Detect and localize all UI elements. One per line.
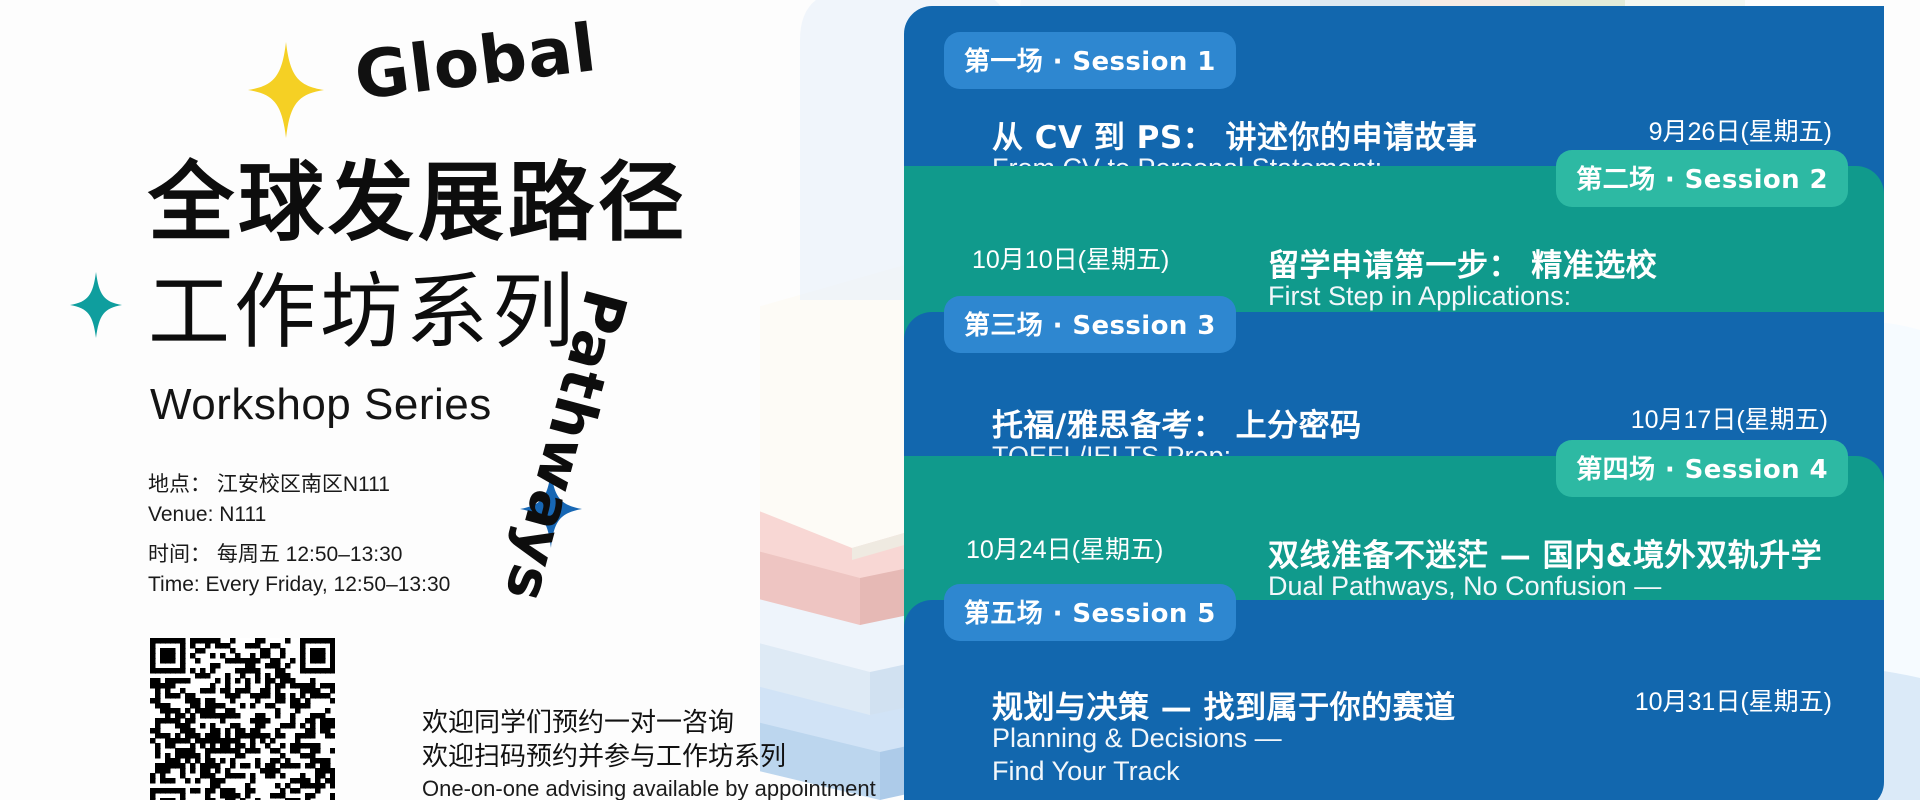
time-info: 时间： 每周五 12:50–13:30 Time: Every Friday, … <box>148 540 450 601</box>
left-info-panel: Global 全球发展路径 工作坊系列 Workshop Series Path… <box>0 0 900 800</box>
callout-en: One-on-one advising available by appoint… <box>422 774 876 800</box>
session-card-5-en-line2: Find Your Track <box>992 755 1282 788</box>
session-card-3-title-cn: 托福/雅思备考： 上分密码 <box>992 400 1362 445</box>
session-card-5-date: 10月31日(星期五) <box>1635 682 1832 718</box>
session-card-4-en-line1: Dual Pathways, No Confusion — <box>1268 570 1661 603</box>
session-card-3-date: 10月17日(星期五) <box>1631 400 1828 436</box>
time-cn: 时间： 每周五 12:50–13:30 <box>148 540 450 570</box>
session-card-2-en-line1: First Step in Applications: <box>1268 280 1618 313</box>
sparkle-yellow-icon <box>248 42 324 138</box>
session-card-1-date: 9月26日(星期五) <box>1649 112 1832 148</box>
venue-en: Venue: N111 <box>148 500 390 530</box>
page-title-en: Workshop Series <box>150 380 492 430</box>
page-title-cn-line1: 全球发展路径 <box>148 160 688 246</box>
session-card-1-badge: 第一场 · Session 1 <box>944 32 1236 89</box>
time-en: Time: Every Friday, 12:50–13:30 <box>148 570 450 600</box>
venue-info: 地点： 江安校区南区N111 Venue: N111 <box>148 470 390 531</box>
session-card-3-badge: 第三场 · Session 3 <box>944 296 1236 353</box>
callout-text: 欢迎同学们预约一对一咨询 欢迎扫码预约并参与工作坊系列 One-on-one a… <box>422 705 876 800</box>
kicker-global: Global <box>351 9 601 115</box>
page-title-cn-line2: 工作坊系列 <box>148 272 578 354</box>
session-card-2-title-cn: 留学申请第一步： 精准选校 <box>1268 240 1657 285</box>
session-card-4-date: 10月24日(星期五) <box>966 530 1163 566</box>
session-card-5-title-cn: 规划与决策 — 找到属于你的赛道 <box>992 682 1456 727</box>
session-card-5-badge: 第五场 · Session 5 <box>944 584 1236 641</box>
session-card-2-badge: 第二场 · Session 2 <box>1556 150 1848 207</box>
session-card-5-en-line1: Planning & Decisions — <box>992 722 1282 755</box>
sparkle-teal-icon <box>70 272 122 338</box>
session-card-1-title-cn: 从 CV 到 PS： 讲述你的申请故事 <box>992 112 1477 157</box>
callout-cn-line1: 欢迎同学们预约一对一咨询 <box>422 705 876 739</box>
venue-cn: 地点： 江安校区南区N111 <box>148 470 390 500</box>
session-card-5-title-en: Planning & Decisions — Find Your Track <box>992 722 1282 788</box>
session-card-5[interactable]: 第五场 · Session 5 规划与决策 — 找到属于你的赛道 Plannin… <box>904 600 1884 800</box>
poster-canvas: Global 全球发展路径 工作坊系列 Workshop Series Path… <box>0 0 1920 800</box>
session-card-4-badge: 第四场 · Session 4 <box>1556 440 1848 497</box>
session-card-4-title-cn: 双线准备不迷茫 — 国内&境外双轨升学 <box>1268 530 1822 575</box>
qr-code[interactable] <box>150 638 335 800</box>
callout-cn-line2: 欢迎扫码预约并参与工作坊系列 <box>422 739 876 773</box>
session-card-2-date: 10月10日(星期五) <box>972 240 1169 276</box>
